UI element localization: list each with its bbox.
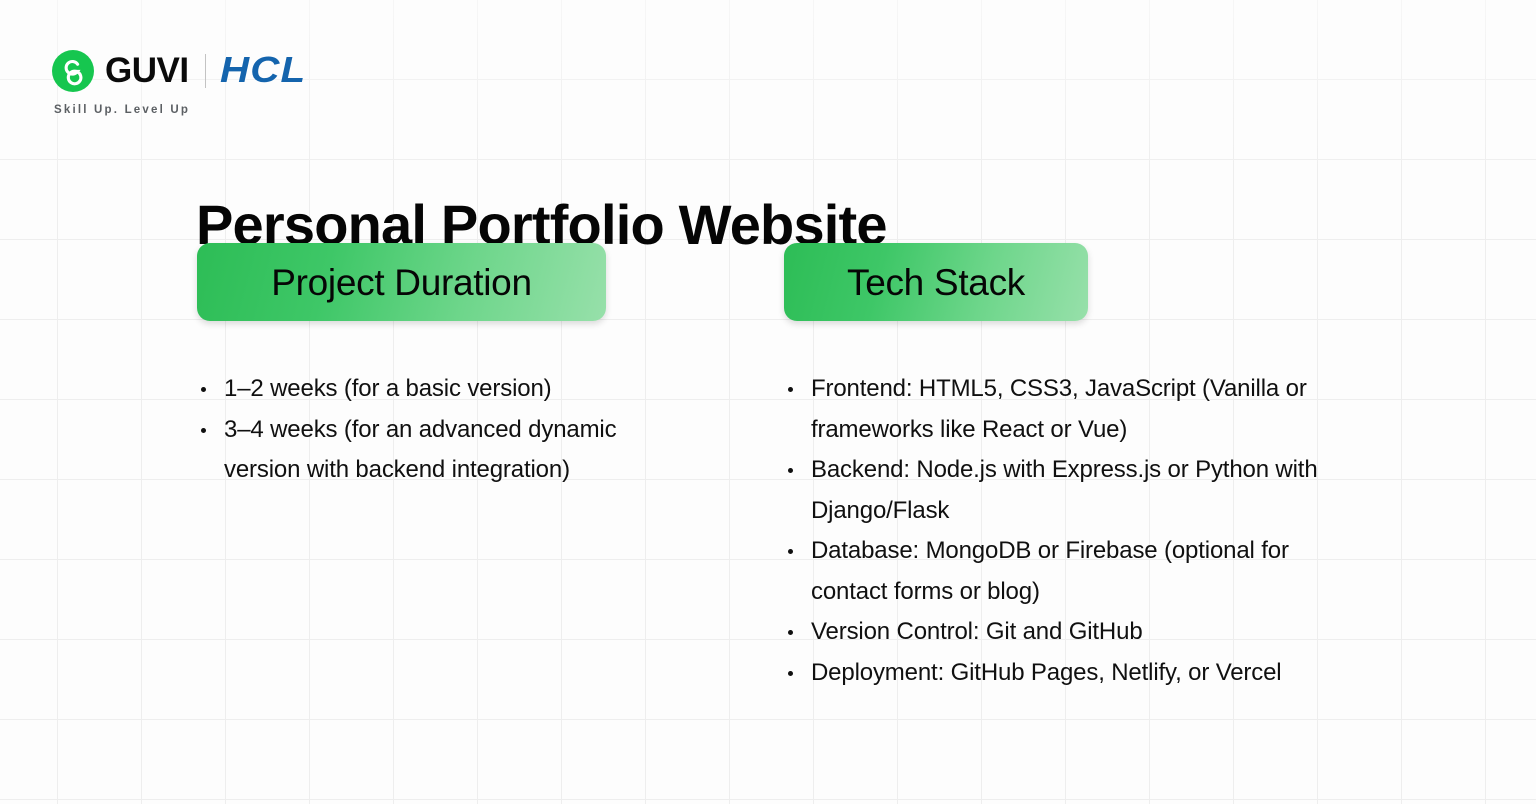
bullet-list-tech-stack: Frontend: HTML5, CSS3, JavaScript (Vanil…	[784, 369, 1354, 693]
badge-label: Tech Stack	[847, 264, 1025, 301]
bullet-list-project-duration: 1–2 weeks (for a basic version) 3–4 week…	[197, 369, 667, 491]
list-item-text: 1–2 weeks (for a basic version)	[224, 369, 667, 410]
column-tech-stack: Tech Stack Frontend: HTML5, CSS3, JavaSc…	[784, 243, 1354, 693]
list-item-text: Database: MongoDB or Firebase (optional …	[811, 531, 1354, 612]
guvi-circle-g-icon	[52, 50, 94, 92]
hcl-wordmark: HCL	[220, 52, 306, 90]
badge-label: Project Duration	[271, 264, 532, 301]
list-item-text: Frontend: HTML5, CSS3, JavaScript (Vanil…	[811, 369, 1354, 450]
list-item-text: Deployment: GitHub Pages, Netlify, or Ve…	[811, 653, 1354, 694]
badge-tech-stack[interactable]: Tech Stack	[784, 243, 1088, 321]
brand-lockup: GUVI HCL Skill Up. Level Up	[52, 48, 297, 116]
list-item: Version Control: Git and GitHub	[784, 612, 1354, 653]
brand-tagline: Skill Up. Level Up	[54, 104, 297, 116]
list-item: Frontend: HTML5, CSS3, JavaScript (Vanil…	[784, 369, 1354, 450]
list-item-text: Version Control: Git and GitHub	[811, 612, 1354, 653]
list-item: 1–2 weeks (for a basic version)	[197, 369, 667, 410]
slide-canvas: GUVI HCL Skill Up. Level Up Personal Por…	[0, 0, 1536, 804]
list-item: Deployment: GitHub Pages, Netlify, or Ve…	[784, 653, 1354, 694]
list-item: Backend: Node.js with Express.js or Pyth…	[784, 450, 1354, 531]
list-item: 3–4 weeks (for an advanced dynamic versi…	[197, 410, 667, 491]
guvi-wordmark: GUVI	[105, 53, 189, 90]
list-item-text: Backend: Node.js with Express.js or Pyth…	[811, 450, 1354, 531]
list-item: Database: MongoDB or Firebase (optional …	[784, 531, 1354, 612]
list-item-text: 3–4 weeks (for an advanced dynamic versi…	[224, 410, 667, 491]
brand-divider	[205, 54, 206, 88]
column-project-duration: Project Duration 1–2 weeks (for a basic …	[197, 243, 667, 491]
badge-project-duration[interactable]: Project Duration	[197, 243, 606, 321]
brand-row: GUVI HCL	[52, 48, 297, 94]
